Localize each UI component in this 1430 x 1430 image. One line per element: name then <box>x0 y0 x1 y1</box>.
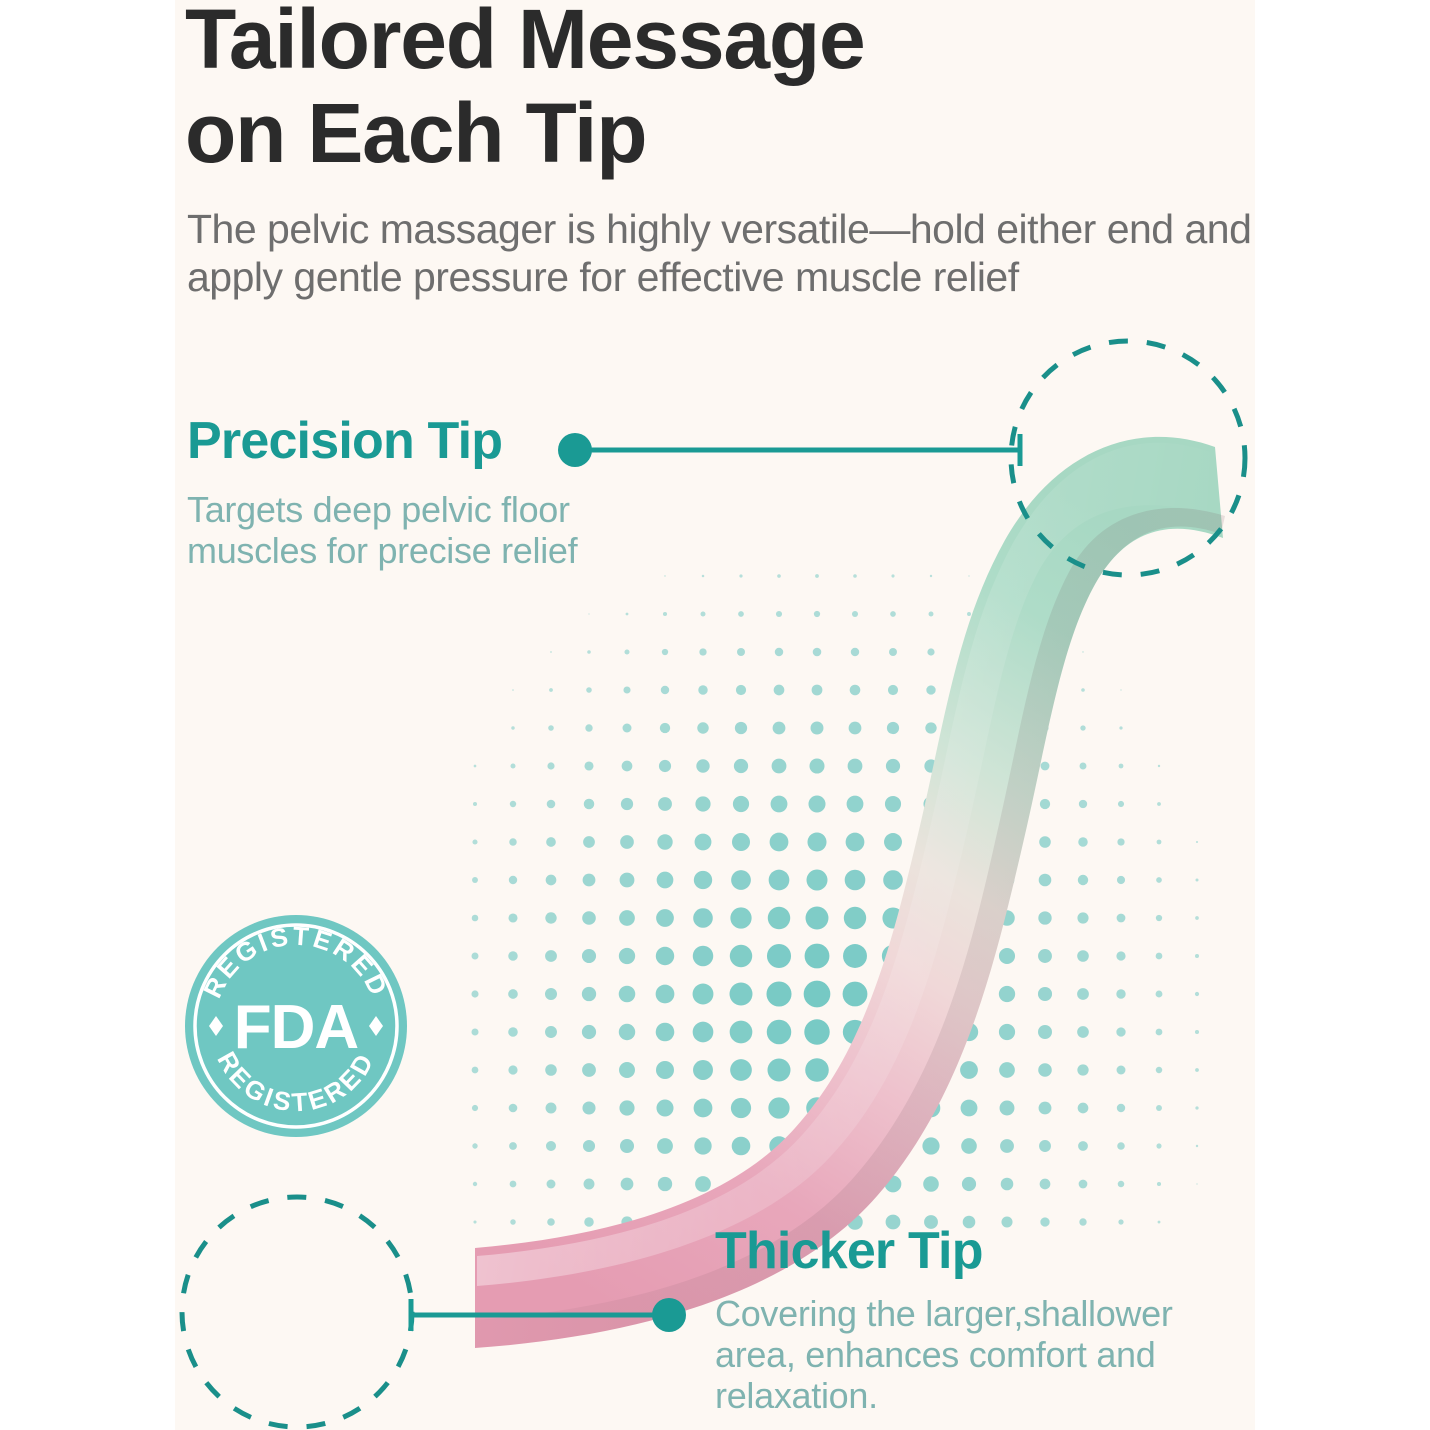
content-panel: REGISTERED REGISTERED FDA Ta <box>175 0 1255 1430</box>
thicker-tip-callout: Thicker Tip Covering the larger,shallowe… <box>715 1225 1255 1416</box>
thicker-tip-description: Covering the larger,shallower area, enha… <box>715 1293 1255 1416</box>
fda-registered-badge: REGISTERED REGISTERED FDA <box>185 915 407 1137</box>
precision-tip-description: Targets deep pelvic floor muscles for pr… <box>187 489 707 571</box>
page-title: Tailored Message on Each Tip <box>185 0 1085 180</box>
precision-tip-highlight-circle <box>1011 341 1245 575</box>
precision-tip-callout: Precision Tip Targets deep pelvic floor … <box>187 415 707 571</box>
thicker-tip-title: Thicker Tip <box>715 1225 1255 1277</box>
page-subtitle: The pelvic massager is highly versatile—… <box>187 205 1255 302</box>
thicker-tip-highlight-circle <box>182 1197 412 1427</box>
badge-center-text: FDA <box>234 993 359 1062</box>
infographic-canvas: REGISTERED REGISTERED FDA Ta <box>0 0 1430 1430</box>
thicker-tip-connector-dot <box>652 1298 686 1332</box>
precision-tip-title: Precision Tip <box>187 415 707 467</box>
